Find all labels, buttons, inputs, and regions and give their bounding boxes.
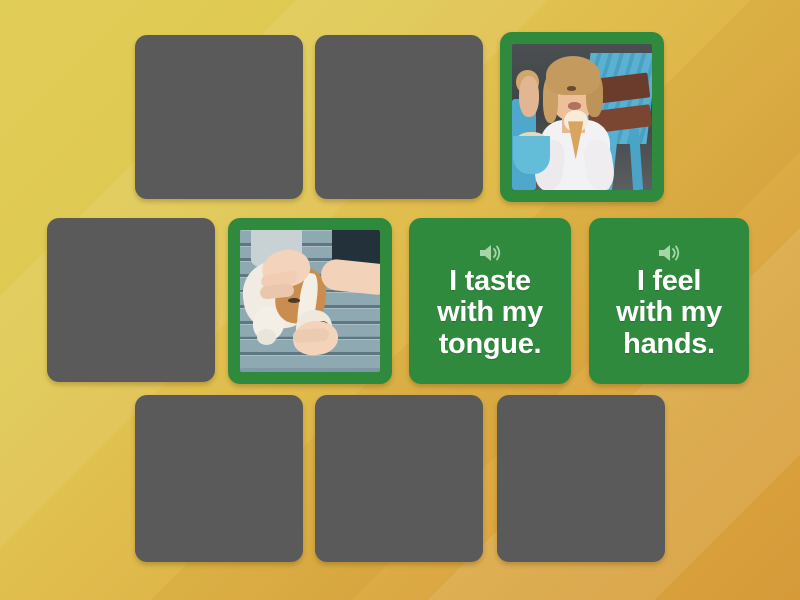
memory-card-image-dog[interactable] bbox=[228, 218, 392, 384]
memory-card-text-feel[interactable]: I feel with my hands. bbox=[589, 218, 749, 384]
game-board: I taste with my tongue. I feel with my h… bbox=[0, 0, 800, 600]
card-caption: I feel with my hands. bbox=[616, 266, 722, 359]
memory-card-face-down[interactable] bbox=[497, 395, 665, 562]
memory-card-face-down[interactable] bbox=[47, 218, 215, 382]
speaker-icon[interactable] bbox=[656, 242, 682, 264]
memory-card-face-down[interactable] bbox=[315, 35, 483, 199]
memory-card-face-down[interactable] bbox=[315, 395, 483, 562]
photo-girl-eating-ice-cream bbox=[512, 44, 652, 190]
memory-card-face-down[interactable] bbox=[135, 35, 303, 199]
memory-card-image-icecream[interactable] bbox=[500, 32, 664, 202]
card-caption: I taste with my tongue. bbox=[437, 266, 543, 359]
memory-card-face-down[interactable] bbox=[135, 395, 303, 562]
memory-card-text-taste[interactable]: I taste with my tongue. bbox=[409, 218, 571, 384]
speaker-icon[interactable] bbox=[477, 242, 503, 264]
photo-hands-petting-dog bbox=[240, 230, 380, 372]
